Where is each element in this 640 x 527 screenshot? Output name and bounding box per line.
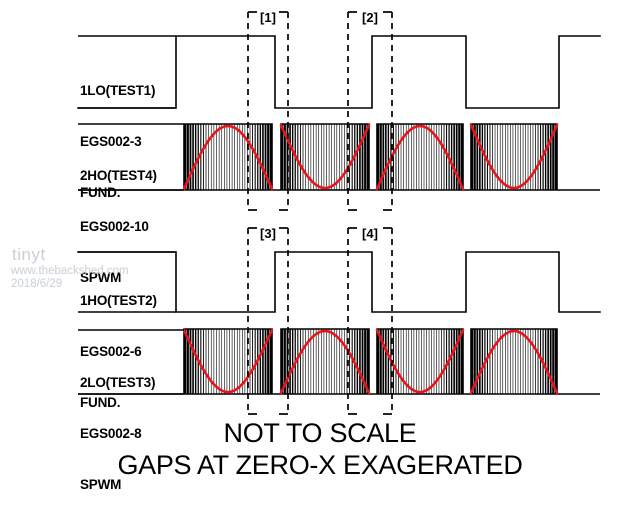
spwm-envelope [281, 329, 369, 394]
spwm-pulse [393, 329, 394, 394]
spwm-pulse [555, 329, 557, 394]
spwm-pulse [377, 329, 379, 394]
spwm-pulse [270, 124, 272, 190]
spwm-pulse [533, 329, 534, 394]
spwm-pulse [224, 329, 225, 394]
spwm-pulse [385, 329, 387, 394]
spwm-pulse [240, 329, 241, 394]
channel-label-line: 1HO(TEST2) [80, 292, 157, 309]
spwm-pulse [331, 329, 332, 394]
spwm-pulse [393, 124, 394, 190]
spwm-pulse [359, 329, 361, 394]
spwm-pulse [411, 329, 412, 394]
spwm-envelope [377, 124, 463, 190]
spwm-pulse [510, 329, 511, 394]
spwm-pulse [289, 329, 291, 394]
diagram-canvas: [1][2][3][4] 1LO(TEST1) EGS002-3 FUND. 2… [0, 0, 640, 494]
spwm-pulse [232, 124, 233, 190]
spwm-pulse [540, 124, 541, 190]
spwm-pulse [403, 124, 404, 190]
spwm-pulse [456, 329, 458, 394]
marker-label: [1] [260, 10, 276, 25]
spwm-pulse [456, 124, 458, 190]
spwm-pulse [414, 124, 415, 190]
spwm-pulse [200, 124, 201, 190]
spwm-pulse [195, 124, 196, 190]
spwm-pulse [227, 329, 228, 394]
spwm-pulse [398, 329, 399, 394]
spwm-pulse [344, 124, 345, 190]
spwm-envelope [377, 329, 463, 394]
marker-label: [4] [362, 226, 378, 241]
spwm-pulse [497, 124, 498, 190]
spwm-pulse [281, 329, 283, 394]
spwm-pulse [203, 124, 204, 190]
spwm-pulse [436, 329, 437, 394]
spwm-pulse [206, 329, 207, 394]
spwm-pulse [419, 329, 420, 394]
spwm-pulse [461, 329, 463, 394]
spwm-pulse [337, 329, 338, 394]
spwm-pulse [234, 329, 235, 394]
spwm-pulse [453, 329, 455, 394]
spwm-envelope [281, 124, 369, 190]
spwm-envelope [184, 329, 272, 394]
spwm-pulse [349, 329, 350, 394]
spwm-pulse [232, 329, 233, 394]
spwm-pulse [245, 329, 246, 394]
spwm-pulse [416, 124, 417, 190]
spwm-pulse [297, 124, 298, 190]
sine-envelope [281, 331, 369, 393]
spwm-pulse [439, 124, 440, 190]
spwm-pulse [255, 329, 256, 394]
spwm-pulse [453, 124, 455, 190]
spwm-pulse [431, 124, 432, 190]
spwm-pulse [318, 124, 319, 190]
spwm-pulse [219, 124, 220, 190]
spwm-pulse [461, 124, 463, 190]
spwm-pulse [547, 124, 549, 190]
spwm-pulse [316, 124, 317, 190]
spwm-pulse [401, 329, 402, 394]
spwm-pulse [229, 124, 230, 190]
spwm-pulse [505, 329, 506, 394]
spwm-pulse [490, 124, 491, 190]
waveform-1lo-test1 [78, 36, 600, 108]
spwm-pulse [515, 329, 516, 394]
spwm-pulse [439, 329, 440, 394]
spwm-pulse [535, 124, 536, 190]
spwm-pulse [520, 329, 521, 394]
spwm-pulse [324, 124, 325, 190]
spwm-pulse [297, 329, 298, 394]
spwm-pulse [300, 329, 301, 394]
spwm-pulse [326, 124, 327, 190]
spwm-pulse [208, 124, 209, 190]
spwm-pulse [525, 329, 526, 394]
spwm-pulse [349, 124, 350, 190]
watermark-date: 2018/6/29 [11, 278, 62, 290]
spwm-pulse [192, 329, 194, 394]
spwm-pulse [547, 329, 549, 394]
spwm-pulse [487, 124, 488, 190]
spwm-pulse [495, 124, 496, 190]
spwm-pulse [200, 329, 201, 394]
sine-envelope [471, 331, 557, 393]
spwm-pulse [303, 124, 304, 190]
spwm-pulse [492, 329, 493, 394]
spwm-pulse [211, 329, 212, 394]
spwm-pulse [419, 124, 420, 190]
spwm-burst [184, 124, 272, 190]
spwm-pulse [550, 124, 552, 190]
spwm-pulse [388, 124, 389, 190]
spwm-pulse [385, 124, 387, 190]
spwm-pulse [538, 329, 539, 394]
spwm-burst [377, 124, 463, 190]
spwm-pulse [518, 124, 519, 190]
spwm-envelope [184, 124, 272, 190]
spwm-pulse [429, 124, 430, 190]
spwm-pulse [398, 124, 399, 190]
spwm-pulse [414, 329, 415, 394]
spwm-pulse [316, 329, 317, 394]
spwm-pulse [337, 124, 338, 190]
spwm-pulse [426, 329, 427, 394]
spwm-pulse [342, 329, 343, 394]
spwm-pulse [523, 329, 524, 394]
spwm-pulse [429, 329, 430, 394]
spwm-envelope [471, 124, 557, 190]
spwm-pulse [523, 124, 524, 190]
spwm-pulse [436, 124, 437, 190]
spwm-pulse [245, 124, 246, 190]
channel-label-line: EGS002-10 [80, 218, 157, 235]
spwm-pulse [508, 124, 509, 190]
spwm-pulse [190, 124, 192, 190]
spwm-pulse [424, 124, 425, 190]
spwm-pulse [471, 124, 473, 190]
spwm-pulse [216, 329, 217, 394]
spwm-pulse [352, 329, 353, 394]
spwm-pulse [281, 124, 283, 190]
spwm-pulse [331, 124, 332, 190]
spwm-pulse [367, 124, 369, 190]
spwm-pulse [520, 124, 521, 190]
spwm-pulse [318, 329, 319, 394]
spwm-pulse [377, 124, 379, 190]
spwm-burst [471, 329, 557, 394]
spwm-pulse [444, 329, 445, 394]
spwm-pulse [221, 124, 222, 190]
spwm-pulse [329, 124, 330, 190]
sine-envelope [281, 125, 369, 188]
spwm-pulse [545, 124, 546, 190]
spwm-pulse [513, 329, 514, 394]
spwm-pulse [382, 124, 384, 190]
spwm-pulse [471, 329, 473, 394]
spwm-pulse [505, 124, 506, 190]
spwm-pulse [508, 329, 509, 394]
spwm-pulse [492, 124, 493, 190]
spwm-pulse [408, 124, 409, 190]
sine-envelope [471, 125, 557, 188]
spwm-pulse [262, 124, 264, 190]
spwm-pulse [260, 124, 261, 190]
spwm-pulse [250, 329, 251, 394]
watermark-url: www.thebackshed.com [11, 265, 129, 277]
spwm-pulse [227, 124, 228, 190]
spwm-burst [184, 329, 272, 394]
spwm-pulse [396, 329, 397, 394]
spwm-pulse [192, 124, 194, 190]
spwm-pulse [190, 329, 192, 394]
spwm-burst [281, 124, 369, 190]
spwm-pulse [513, 124, 514, 190]
watermark-brand: tinyt [12, 245, 46, 265]
spwm-pulse [518, 329, 519, 394]
spwm-pulse [357, 124, 358, 190]
spwm-pulse [421, 124, 422, 190]
spwm-burst [281, 329, 369, 394]
spwm-pulse [502, 329, 503, 394]
spwm-pulse [252, 329, 253, 394]
spwm-pulse [203, 329, 204, 394]
sine-envelope [184, 330, 272, 392]
spwm-pulse [184, 329, 186, 394]
spwm-pulse [441, 124, 442, 190]
spwm-pulse [525, 124, 526, 190]
spwm-pulse [265, 329, 267, 394]
spwm-pulse [362, 329, 364, 394]
spwm-pulse [530, 124, 531, 190]
spwm-pulse [545, 329, 546, 394]
spwm-pulse [208, 329, 209, 394]
spwm-pulse [550, 329, 552, 394]
spwm-pulse [441, 329, 442, 394]
spwm-pulse [538, 124, 539, 190]
spwm-burst [377, 329, 463, 394]
spwm-pulse [510, 124, 511, 190]
spwm-pulse [490, 329, 491, 394]
spwm-pulse [344, 329, 345, 394]
spwm-pulse [184, 124, 186, 190]
spwm-pulse [446, 329, 447, 394]
spwm-pulse [321, 329, 322, 394]
spwm-pulse [313, 124, 314, 190]
spwm-pulse [342, 124, 343, 190]
spwm-pulse [479, 124, 481, 190]
spwm-pulse [555, 124, 557, 190]
marker-label: [2] [362, 10, 378, 25]
spwm-pulse [476, 124, 478, 190]
spwm-pulse [305, 329, 306, 394]
spwm-pulse [292, 124, 293, 190]
spwm-pulse [424, 329, 425, 394]
spwm-pulse [446, 124, 447, 190]
spwm-pulse [382, 329, 384, 394]
channel-label-line: 2LO(TEST3) [80, 374, 155, 391]
spwm-pulse [265, 124, 267, 190]
channel-label-line: 2HO(TEST4) [80, 167, 157, 184]
spwm-pulse [515, 124, 516, 190]
spwm-pulse [224, 124, 225, 190]
spwm-pulse [497, 329, 498, 394]
spwm-pulse [329, 329, 330, 394]
spwm-pulse [451, 124, 452, 190]
spwm-pulse [479, 329, 481, 394]
spwm-pulse [234, 124, 235, 190]
spwm-pulse [252, 124, 253, 190]
spwm-pulse [426, 124, 427, 190]
sine-envelope [377, 330, 463, 392]
spwm-pulse [289, 124, 291, 190]
spwm-pulse [237, 124, 238, 190]
spwm-pulse [401, 124, 402, 190]
spwm-pulse [206, 124, 207, 190]
spwm-envelope [471, 329, 557, 394]
spwm-pulse [255, 124, 256, 190]
spwm-pulse [411, 124, 412, 190]
spwm-pulse [352, 124, 353, 190]
spwm-pulse [219, 329, 220, 394]
spwm-pulse [216, 124, 217, 190]
caption-gaps-exagerated: GAPS AT ZERO-X EXAGERATED [0, 450, 640, 481]
spwm-pulse [396, 124, 397, 190]
spwm-pulse [334, 124, 335, 190]
spwm-pulse [321, 124, 322, 190]
spwm-pulse [313, 329, 314, 394]
spwm-pulse [324, 329, 325, 394]
spwm-pulse [221, 329, 222, 394]
spwm-pulse [416, 329, 417, 394]
spwm-pulse [476, 329, 478, 394]
spwm-pulse [533, 124, 534, 190]
spwm-pulse [308, 329, 309, 394]
spwm-pulse [326, 329, 327, 394]
spwm-pulse [482, 329, 483, 394]
spwm-pulse [403, 329, 404, 394]
spwm-pulse [367, 329, 369, 394]
spwm-pulse [502, 124, 503, 190]
sine-envelope [184, 126, 272, 189]
spwm-pulse [229, 329, 230, 394]
spwm-pulse [487, 329, 488, 394]
spwm-pulse [260, 329, 261, 394]
spwm-pulse [408, 329, 409, 394]
caption-not-to-scale: NOT TO SCALE [0, 418, 640, 449]
spwm-pulse [482, 124, 483, 190]
spwm-pulse [444, 124, 445, 190]
spwm-pulse [250, 124, 251, 190]
spwm-pulse [240, 124, 241, 190]
spwm-pulse [362, 124, 364, 190]
spwm-pulse [211, 124, 212, 190]
spwm-pulse [195, 329, 196, 394]
spwm-pulse [495, 329, 496, 394]
spwm-pulse [530, 329, 531, 394]
spwm-pulse [421, 329, 422, 394]
spwm-pulse [262, 329, 264, 394]
spwm-pulse [334, 329, 335, 394]
spwm-pulse [359, 124, 361, 190]
marker-label: [3] [260, 226, 276, 241]
spwm-pulse [535, 329, 536, 394]
spwm-pulse [357, 329, 358, 394]
spwm-pulse [292, 329, 293, 394]
sine-envelope [377, 126, 463, 189]
spwm-pulse [305, 124, 306, 190]
spwm-pulse [388, 329, 389, 394]
channel-label-line: 1LO(TEST1) [80, 82, 155, 99]
spwm-pulse [431, 329, 432, 394]
spwm-pulse [270, 329, 272, 394]
spwm-pulse [300, 124, 301, 190]
spwm-pulse [237, 329, 238, 394]
spwm-pulse [451, 329, 452, 394]
spwm-pulse [303, 329, 304, 394]
spwm-burst [471, 124, 557, 190]
spwm-pulse [540, 329, 541, 394]
spwm-pulse [308, 124, 309, 190]
